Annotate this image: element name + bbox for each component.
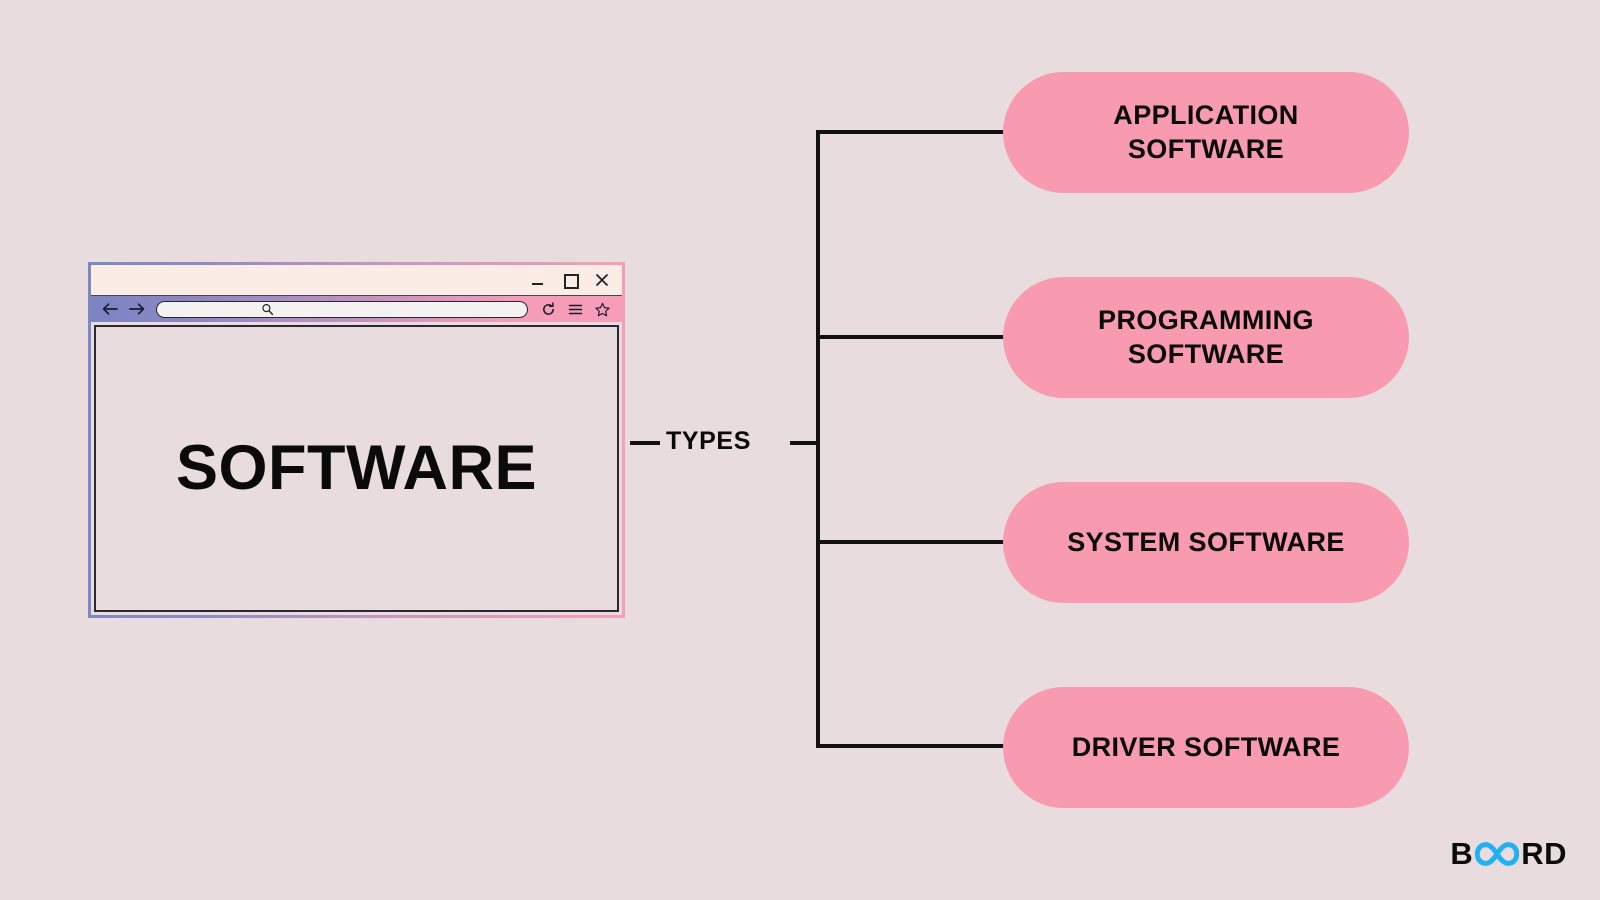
minimize-icon[interactable] [531, 273, 545, 287]
connector-branch-driver [816, 744, 1008, 748]
close-icon[interactable] [595, 273, 609, 287]
connector-label: TYPES [666, 427, 751, 456]
type-pill-system-software[interactable]: SYSTEM SOFTWARE [1003, 482, 1409, 603]
type-pill-label: PROGRAMMINGSOFTWARE [1098, 304, 1314, 371]
type-pill-label: SYSTEM SOFTWARE [1067, 526, 1345, 559]
back-arrow-icon[interactable] [97, 302, 123, 316]
connector-branch-application [816, 130, 1008, 134]
infinity-icon [1475, 839, 1519, 869]
type-pill-label: DRIVER SOFTWARE [1072, 731, 1341, 764]
browser-viewport: SOFTWARE [94, 325, 619, 612]
type-pill-programming-software[interactable]: PROGRAMMINGSOFTWARE [1003, 277, 1409, 398]
menu-icon[interactable] [562, 303, 589, 316]
maximize-icon[interactable] [563, 273, 577, 287]
type-pill-application-software[interactable]: APPLICATIONSOFTWARE [1003, 72, 1409, 193]
reload-icon[interactable] [535, 302, 562, 317]
board-logo: B RD [1450, 836, 1567, 872]
logo-suffix: RD [1521, 836, 1567, 872]
connector-branch-programming [816, 335, 1008, 339]
forward-arrow-icon[interactable] [123, 302, 149, 316]
type-pill-label: APPLICATIONSOFTWARE [1113, 99, 1298, 166]
connector-spine [816, 130, 820, 748]
bookmark-star-icon[interactable] [589, 302, 616, 317]
browser-window: SOFTWARE [88, 262, 625, 618]
logo-prefix: B [1450, 836, 1473, 872]
connector-branch-system [816, 540, 1008, 544]
search-icon [261, 303, 274, 316]
page-title: SOFTWARE [176, 437, 537, 500]
browser-toolbar [91, 295, 622, 322]
type-pill-driver-software[interactable]: DRIVER SOFTWARE [1003, 687, 1409, 808]
diagram-canvas: SOFTWARE TYPES APPLICATIONSOFTWARE PROGR… [0, 0, 1600, 900]
search-input[interactable] [156, 301, 528, 318]
browser-title-bar [91, 265, 622, 295]
connector-stub-left [630, 441, 660, 445]
